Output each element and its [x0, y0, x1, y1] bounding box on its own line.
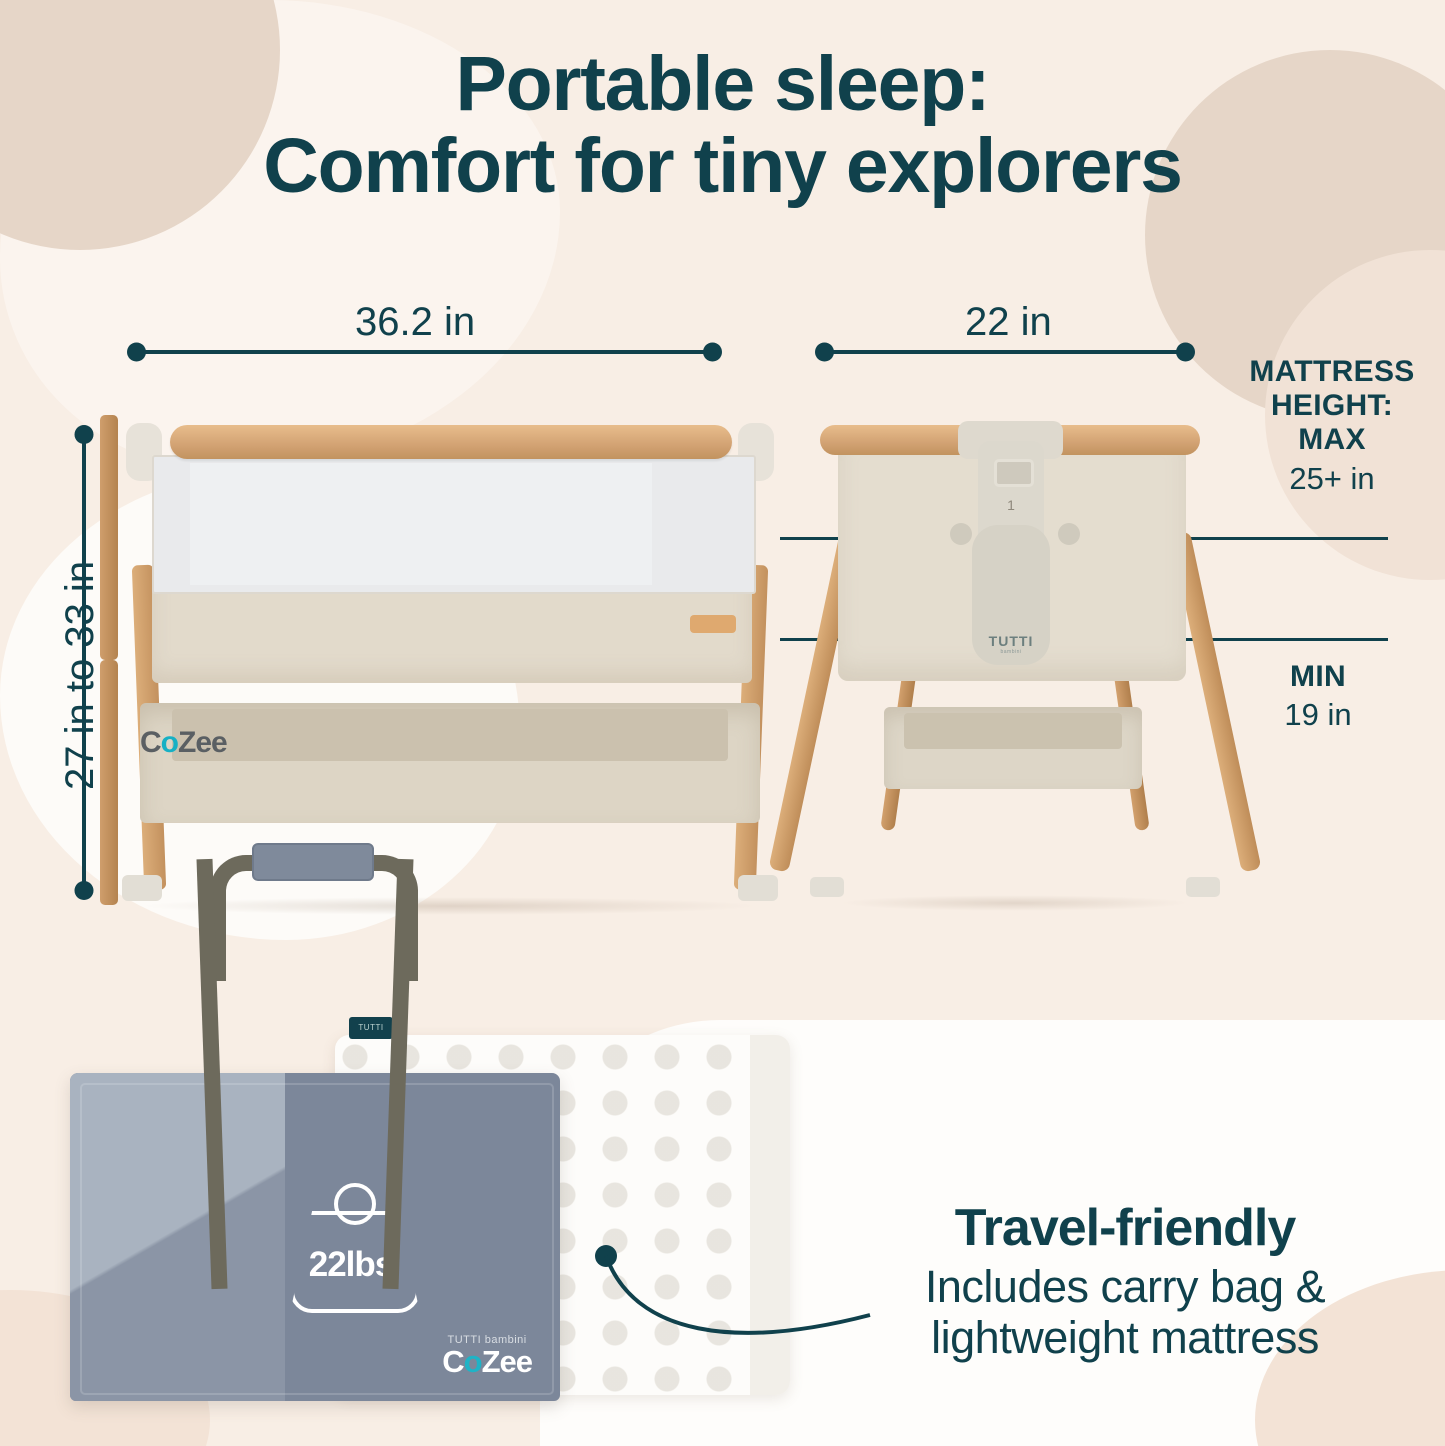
carry-bag-cozee-c: C	[442, 1344, 463, 1379]
side-leather-tab	[690, 615, 736, 633]
tutti-bambini-logo-end-view: TUTTI bambini	[970, 633, 1052, 655]
travel-friendly-line-2: lightweight mattress	[845, 1313, 1405, 1363]
mattress-height-min-callout: MIN 19 in	[1218, 660, 1418, 733]
cozee-logo-side-view: CoZee	[140, 726, 227, 760]
travel-friendly-block: Travel-friendly Includes carry bag & lig…	[845, 1200, 1405, 1363]
mattress-height-title-line-2: HEIGHT:	[1232, 389, 1432, 423]
page-title: Portable sleep: Comfort for tiny explore…	[0, 44, 1445, 207]
carry-bag-cozee-zee: Zee	[482, 1344, 532, 1379]
carry-bag-cozee-wordmark: CoZee	[442, 1346, 532, 1377]
mattress-height-min-value: 19 in	[1218, 696, 1418, 733]
bassinet-side-view	[100, 415, 800, 915]
end-adjust-handle	[994, 459, 1034, 487]
end-foot-right	[1186, 877, 1220, 897]
depth-dimension-line	[820, 350, 1190, 354]
end-storage-basket	[884, 707, 1142, 789]
end-storage-basket-interior	[904, 713, 1122, 749]
carry-bag: 22lbs TUTTI bambini CoZee	[70, 1073, 560, 1401]
bag-handle-grip	[252, 843, 374, 881]
end-foot-left	[810, 877, 844, 897]
end-ground-shadow	[840, 895, 1190, 911]
mattress-height-title-line-1: MATTRESS	[1232, 355, 1432, 389]
side-leg-back-left	[100, 415, 118, 660]
carry-bag-cozee-o: o	[464, 1344, 482, 1379]
cozee-logo-o: o	[161, 726, 178, 759]
mattress-height-max-label: MAX	[1232, 423, 1432, 457]
width-dimension-line	[132, 350, 717, 354]
mattress-brand-tag: TUTTI	[349, 1017, 393, 1039]
bassinet-end-view: 1 TUTTI bambini	[810, 415, 1220, 915]
side-mesh-window-inner	[190, 463, 652, 585]
infographic-canvas: Portable sleep: Comfort for tiny explore…	[0, 0, 1445, 1446]
side-leg-back-right	[100, 660, 118, 905]
mattress-height-max-value: 25+ in	[1232, 460, 1432, 497]
tutti-logo-sub: bambini	[970, 649, 1052, 655]
travel-friendly-heading: Travel-friendly	[845, 1200, 1405, 1256]
headline-line-2: Comfort for tiny explorers	[0, 126, 1445, 208]
mattress-height-max-callout: MATTRESS HEIGHT: MAX 25+ in	[1232, 355, 1432, 497]
tutti-logo-main: TUTTI	[970, 633, 1052, 649]
side-top-rail	[170, 425, 732, 459]
cozee-logo-carry-bag: TUTTI bambini CoZee	[442, 1334, 532, 1377]
width-dimension-label: 36.2 in	[355, 300, 475, 345]
mattress-height-min-label: MIN	[1218, 660, 1418, 694]
side-storage-basket-interior	[172, 709, 728, 761]
depth-dimension-label: 22 in	[965, 300, 1052, 345]
height-dimension-label: 27 in to 33 in	[58, 561, 103, 790]
side-storage-basket	[140, 703, 760, 823]
headline-line-1: Portable sleep:	[0, 44, 1445, 126]
end-adjust-number: 1	[978, 497, 1044, 513]
cozee-logo-zee: Zee	[178, 726, 227, 759]
end-pivot-right	[1058, 523, 1080, 545]
travel-friendly-line-1: Includes carry bag &	[845, 1262, 1405, 1312]
cozee-logo-c: C	[140, 726, 161, 759]
end-pivot-left	[950, 523, 972, 545]
